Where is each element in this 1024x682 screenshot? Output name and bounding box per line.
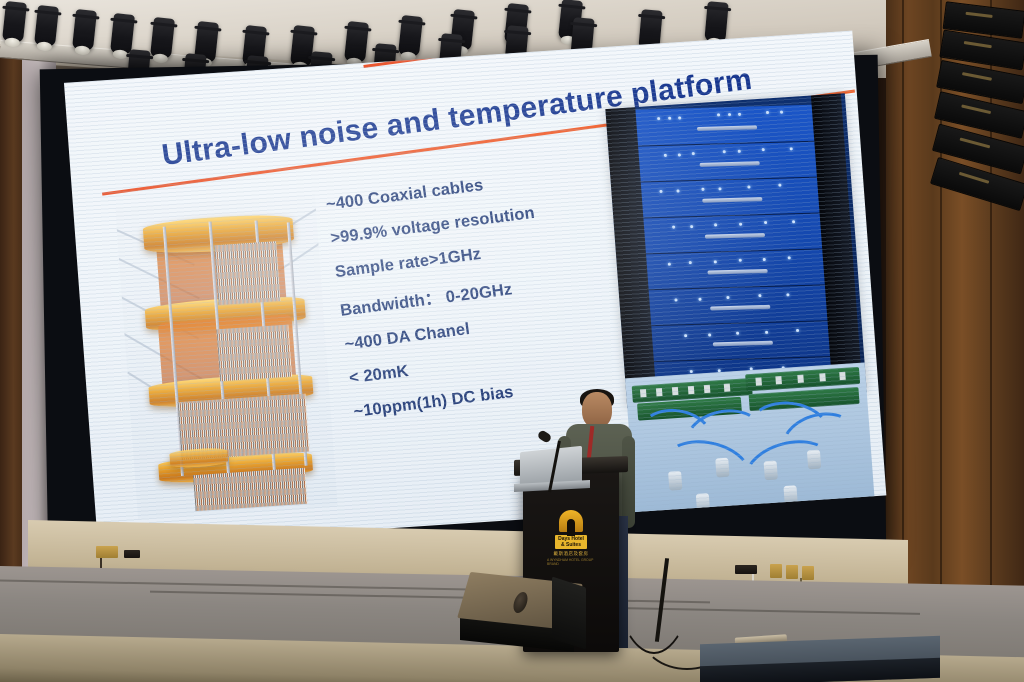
wall-outlet-icon <box>124 550 140 558</box>
photo-scene: Ultra-low noise and temperature platform <box>0 0 1024 682</box>
wall-outlet-icon <box>770 564 782 578</box>
venue-logo-line2: & Suites <box>561 542 581 548</box>
blue-electronics-rack-photo <box>605 93 866 408</box>
venue-logo-line1: Days Hotel <box>558 536 584 542</box>
presenter-head <box>582 392 612 428</box>
stage-light-icon <box>704 1 728 43</box>
stage-light-icon <box>398 15 423 57</box>
stage-light-icon <box>72 9 97 51</box>
stage-light-icon <box>2 1 27 43</box>
venue-logo-sub: A WYNDHAM HOTEL GROUP BRAND <box>547 558 595 566</box>
wall-outlet-icon <box>786 565 798 579</box>
wall-outlet-icon <box>735 565 757 574</box>
stage-light-icon <box>150 17 175 59</box>
slide-surface: Ultra-low noise and temperature platform <box>64 31 886 548</box>
hotel-arch-icon <box>559 510 583 532</box>
stage-light-icon <box>34 5 59 47</box>
wall-outlet-icon <box>96 546 118 558</box>
rack-front-panel <box>635 105 832 397</box>
dilution-refrigerator-photo <box>115 195 337 519</box>
line-array-speaker <box>930 4 1024 214</box>
venue-logo-name: Days Hotel & Suites <box>555 535 587 550</box>
stage-light-icon <box>344 21 369 63</box>
monitor-side <box>552 576 586 649</box>
wall-outlet-icon <box>802 566 814 580</box>
wedge-floor-monitor <box>456 578 584 650</box>
venue-logo: Days Hotel & Suites 戴斯酒店及套房 A WYNDHAM HO… <box>547 510 595 566</box>
led-wall-display: Ultra-low noise and temperature platform <box>40 55 887 568</box>
venue-logo-chinese: 戴斯酒店及套房 <box>554 551 589 557</box>
